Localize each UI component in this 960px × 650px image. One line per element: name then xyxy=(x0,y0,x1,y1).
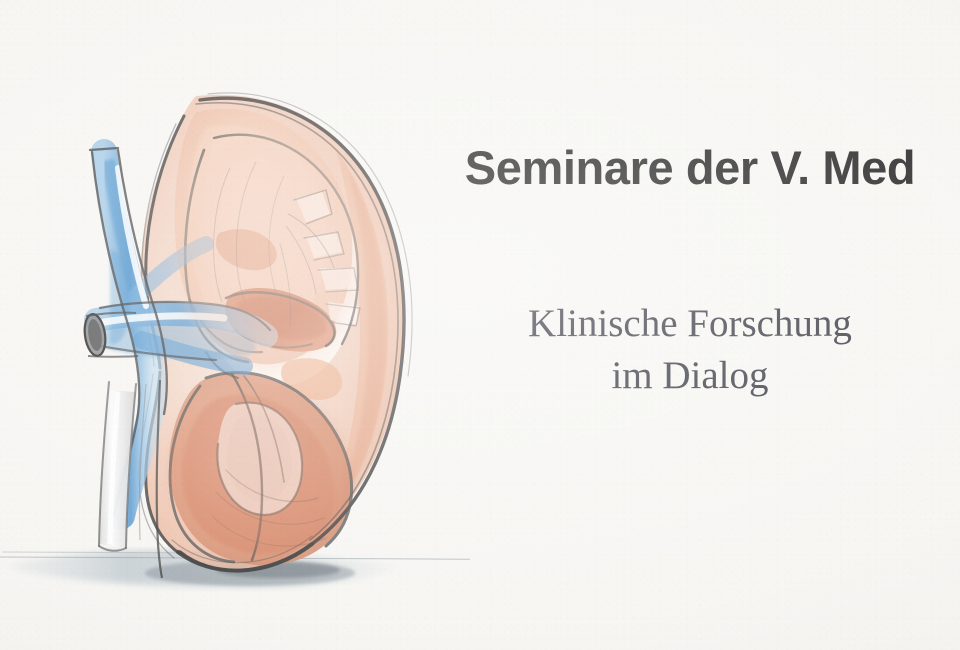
subtitle-line-2: im Dialog xyxy=(430,350,950,402)
kidney-svg xyxy=(0,0,470,650)
subtitle-line-1: Klinische Forschung xyxy=(430,298,950,350)
text-block: Seminare der V. Med Klinische Forschung … xyxy=(430,140,950,196)
title-slide: Seminare der V. Med Klinische Forschung … xyxy=(0,0,960,650)
kidney-illustration xyxy=(0,0,470,650)
subtitle: Klinische Forschung im Dialog xyxy=(430,298,950,402)
page-title: Seminare der V. Med xyxy=(430,140,950,196)
